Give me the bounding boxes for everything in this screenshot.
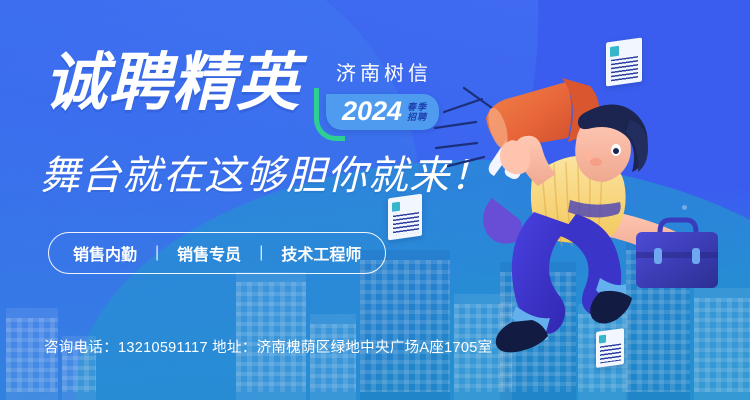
job-positions-pill: 销售内勤 | 销售专员 | 技术工程师 [48,232,386,274]
recruitment-banner: 诚聘精英 济南树信 2024 春季 招聘 舞台就在这够胆你就来！ 销售内勤 [0,0,750,400]
job-separator: | [155,244,159,262]
job-position-3: 技术工程师 [281,241,361,265]
illustration [420,0,750,400]
job-separator: | [259,244,263,262]
main-headline: 诚聘精英 [44,52,300,115]
company-name: 济南树信 [336,64,432,84]
resume-document-icon [596,330,624,366]
resume-document-icon [606,40,642,84]
job-position-2: 销售专员 [177,241,241,265]
badge-year-text: 2024 [342,98,402,125]
resume-document-icon [388,196,422,238]
jumping-businessman-character [420,0,750,400]
headline-row: 诚聘精英 济南树信 2024 春季 招聘 [44,52,439,130]
job-position-1: 销售内勤 [73,241,137,265]
